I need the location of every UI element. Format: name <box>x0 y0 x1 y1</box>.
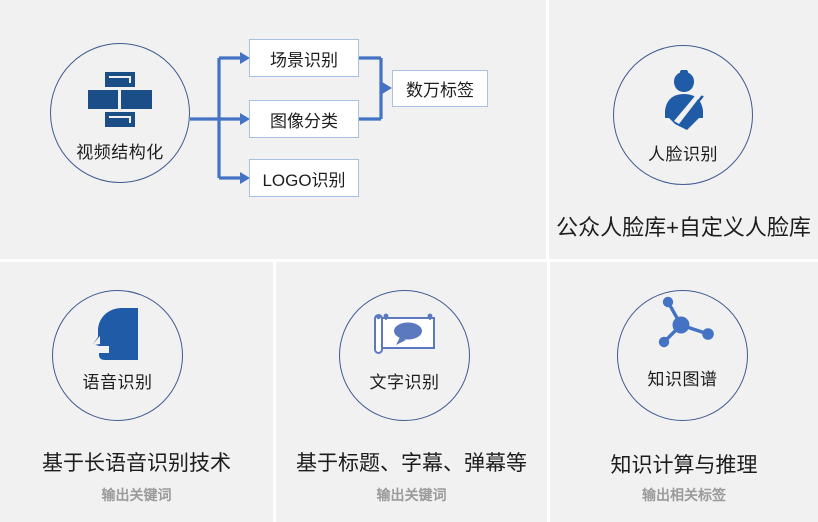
caption-speech-sub: 输出关键词 <box>0 485 273 505</box>
caption-speech-main: 基于长语音识别技术 <box>0 447 273 477</box>
circle-label-speech-recognition: 语音识别 <box>52 368 183 393</box>
caption-knowledge-graph-main: 知识计算与推理 <box>550 449 818 479</box>
flow-box-scene-recognition[interactable]: 场景识别 <box>249 39 359 77</box>
banner-speech-bubble-icon <box>372 310 438 358</box>
panel-knowledge-graph: 知识图谱 知识计算与推理 输出相关标签 <box>550 262 818 522</box>
face-scan-icon <box>655 70 713 130</box>
panel-face-recognition: 人脸识别 公众人脸库+自定义人脸库 <box>549 0 818 259</box>
flow-box-image-classification[interactable]: 图像分类 <box>249 100 359 138</box>
caption-text-sub: 输出关键词 <box>276 485 547 505</box>
panel-speech-recognition: 语音识别 基于长语音识别技术 输出关键词 <box>0 262 273 522</box>
circle-label-face-recognition: 人脸识别 <box>613 140 753 165</box>
circle-label-knowledge-graph: 知识图谱 <box>617 365 748 390</box>
node-graph-icon <box>650 292 718 354</box>
head-profile-icon <box>90 306 146 362</box>
panel-video-structuring: 视频结构化 <box>0 0 546 259</box>
caption-face-recognition: 公众人脸库+自定义人脸库 <box>549 210 818 242</box>
caption-knowledge-graph-sub: 输出相关标签 <box>550 485 818 505</box>
panel-text-recognition: 文字识别 基于标题、字幕、弹幕等 输出关键词 <box>276 262 547 522</box>
caption-text-main: 基于标题、字幕、弹幕等 <box>276 447 547 477</box>
flow-box-tens-of-thousands-tags[interactable]: 数万标签 <box>392 70 488 107</box>
infographic-root: 视频结构化 <box>0 0 818 522</box>
circle-label-text-recognition: 文字识别 <box>339 368 470 393</box>
flow-box-logo-recognition[interactable]: LOGO识别 <box>249 159 359 197</box>
